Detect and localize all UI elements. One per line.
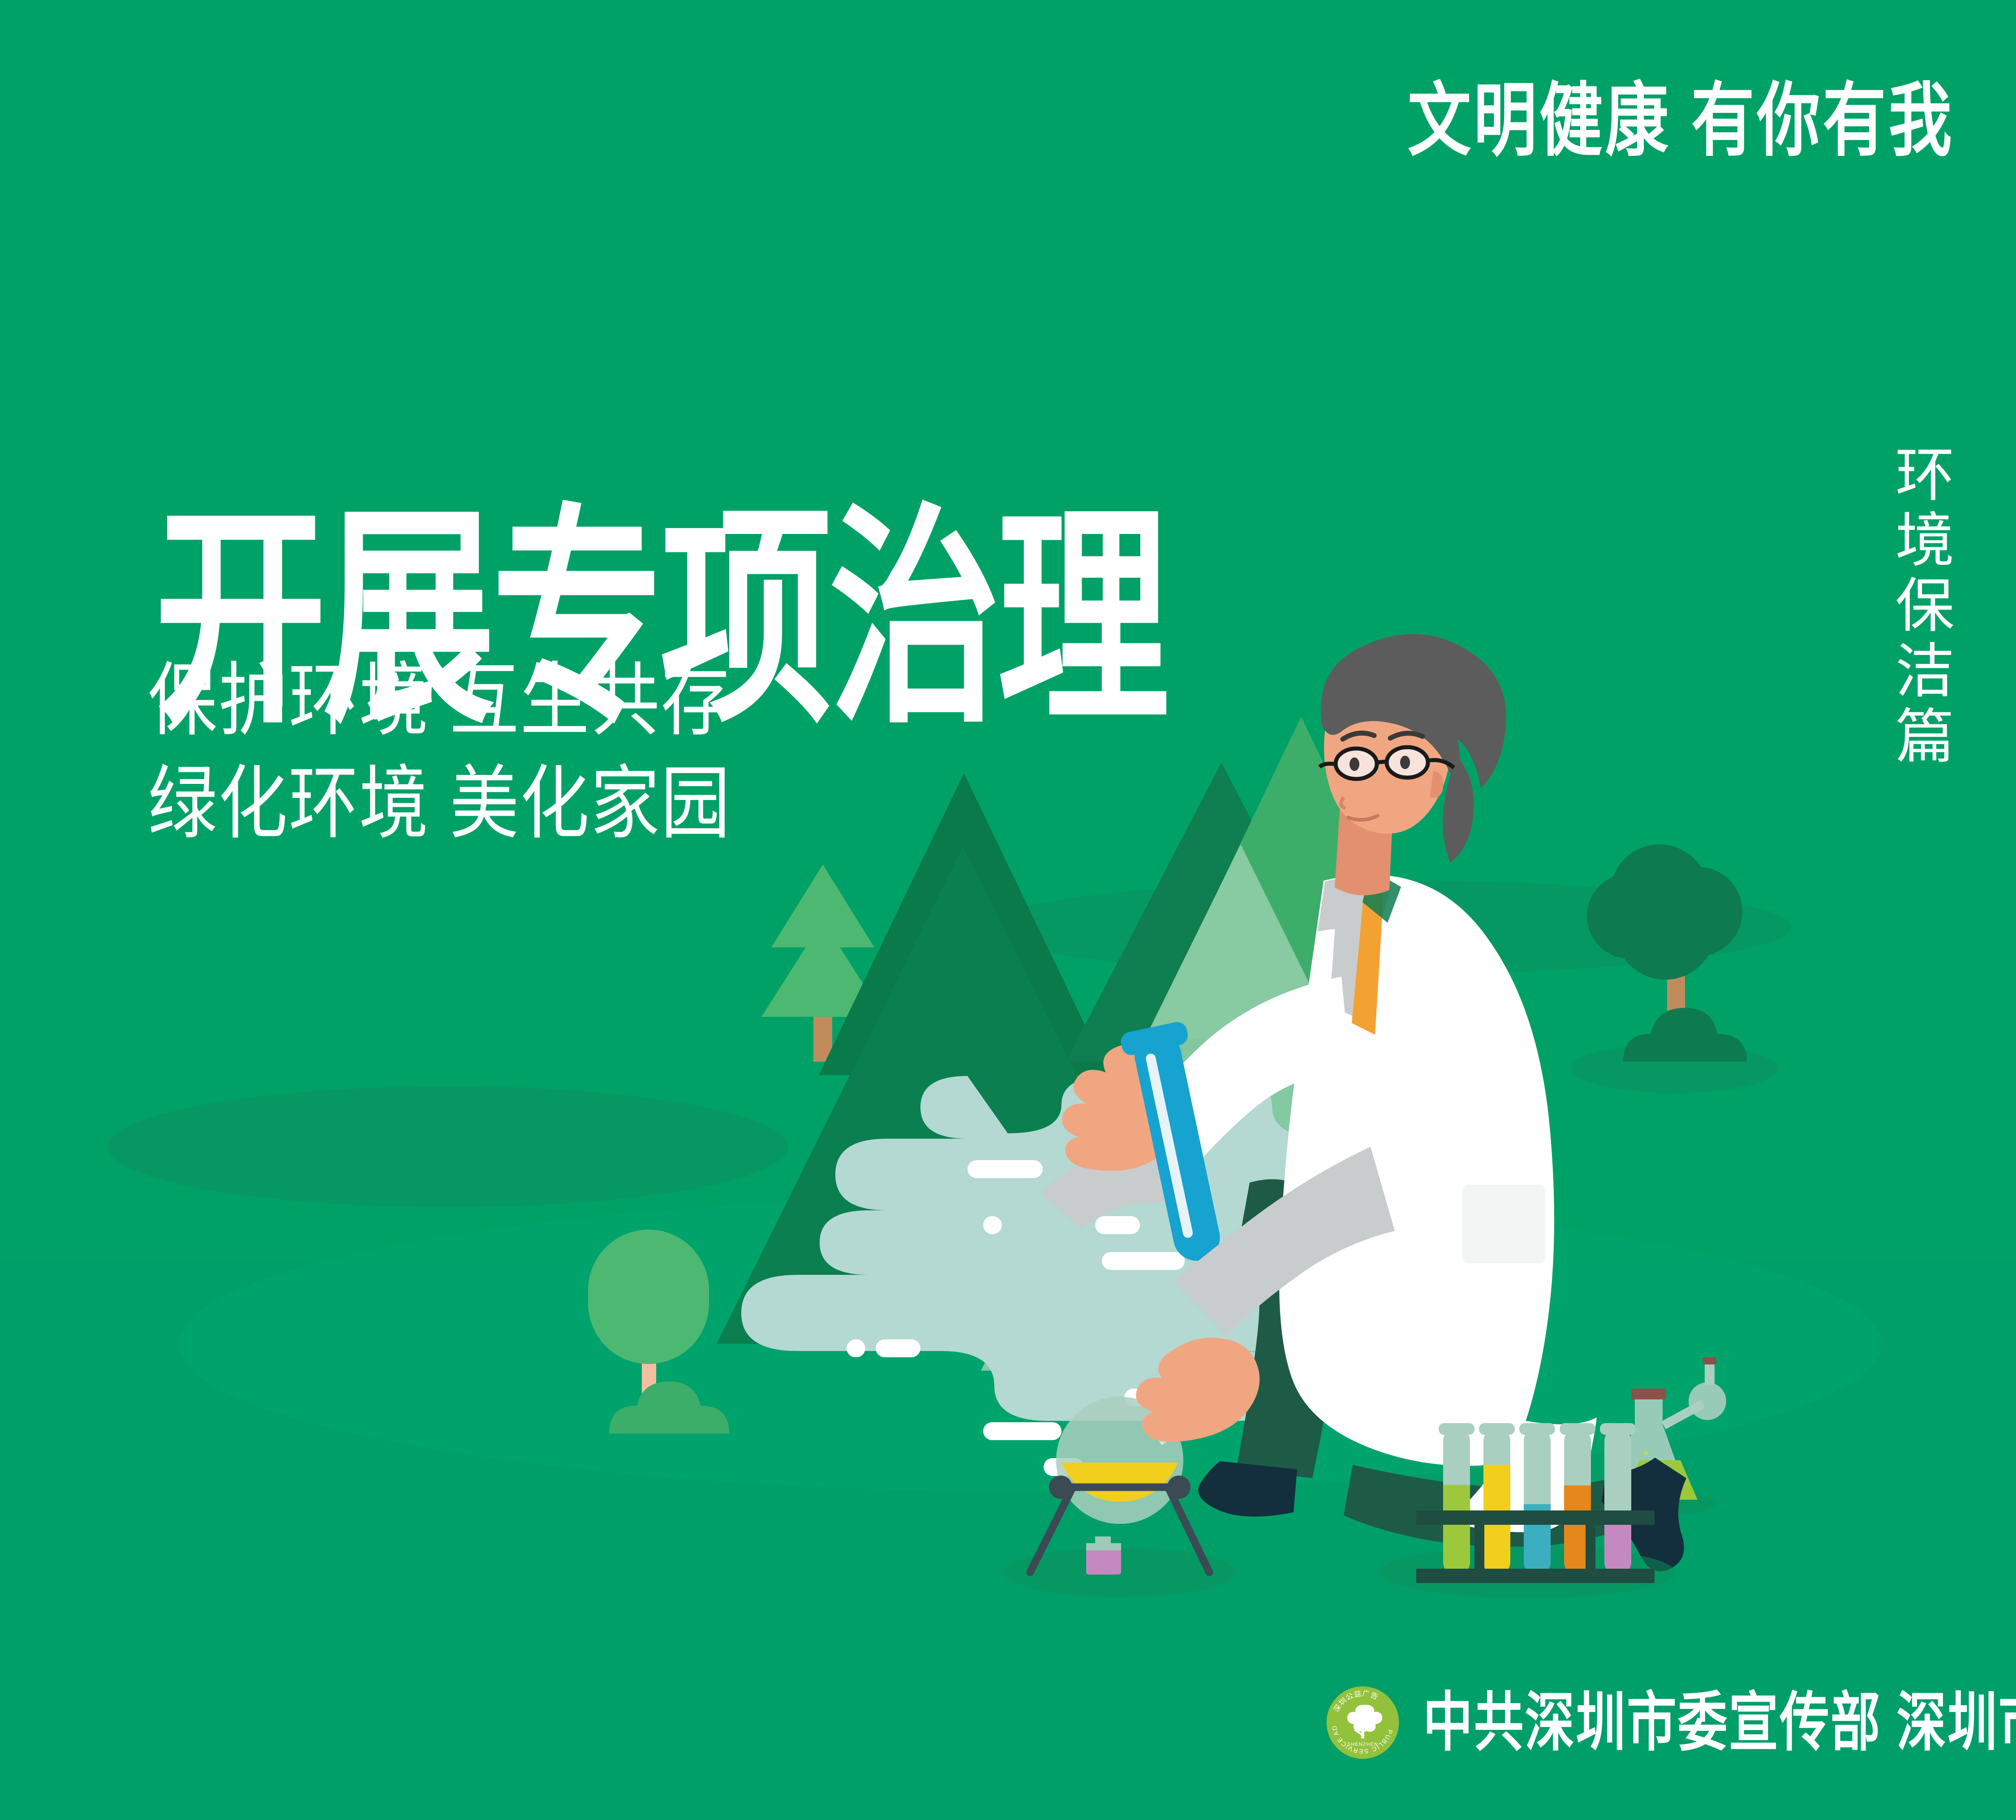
scientist-arm-lower <box>1173 1147 1395 1336</box>
blue-test-tube <box>1119 1020 1234 1267</box>
cloud-tree <box>1571 844 1777 1093</box>
eye-right <box>1400 756 1410 769</box>
mouth <box>1348 816 1378 820</box>
collar-left <box>1329 873 1374 1018</box>
polluted-water-pool <box>741 1075 1469 1476</box>
rack-tubes <box>1439 1423 1636 1575</box>
eye-left <box>1350 757 1359 771</box>
subtitle-block: 保护环境 互生共存 绿化环境 美化家园 <box>148 643 749 849</box>
ground-shadow-left <box>107 1086 788 1207</box>
scientist-back-shoe <box>1601 1458 1686 1571</box>
round-bottom-flask-with-burner <box>1003 1379 1236 1597</box>
scientist-hair <box>1321 634 1506 788</box>
ground-highlight <box>179 1196 1881 1492</box>
top-slogan: 文明健康 有你有我 <box>1408 81 1954 161</box>
mountain-dark-small <box>819 773 1109 1075</box>
mountain-dark-big <box>717 847 1209 1344</box>
scientist-head <box>1324 660 1452 834</box>
svg-text:SHENZHEN: SHENZHEN <box>1347 1742 1378 1747</box>
footer-credit: 中共深圳市委宣传部 深圳市文明办 <box>1423 1691 2016 1755</box>
scientist-front-shoe <box>1198 1461 1297 1517</box>
erlenmeyer-flask <box>1599 1357 1726 1515</box>
scientist-front-leg <box>1236 1179 1341 1479</box>
round-tree <box>588 1230 729 1433</box>
illustration-scene <box>0 0 2016 1820</box>
mountain-dark <box>1066 762 1377 1062</box>
ear <box>1430 770 1444 798</box>
scientist-arm-upper <box>1104 977 1350 1200</box>
pine-tree <box>761 865 884 1062</box>
scientist-figure <box>1040 634 1686 1571</box>
mountain-pale-front <box>981 844 1500 1371</box>
shoulder-shadow <box>1363 869 1401 923</box>
mountain-mid <box>1147 717 1456 1039</box>
scientist-left-hand <box>1136 1338 1259 1442</box>
ground-shadow-mid <box>985 880 1792 974</box>
scientist-neck <box>1335 804 1393 895</box>
subtitle-line-1: 保护环境 互生共存 <box>148 643 731 758</box>
scientist-right-hand <box>1062 1044 1178 1171</box>
scientist-coat <box>1279 874 1554 1466</box>
test-tube-rack <box>1380 1423 1675 1598</box>
coat-pocket <box>1462 1185 1545 1263</box>
footer: 深圳公益广告 PUBLIC SERVICE ADVERTISING SHENZH… <box>1326 1686 2016 1760</box>
glasses-icon <box>1320 747 1454 779</box>
shenzhen-psa-logo-icon: 深圳公益广告 PUBLIC SERVICE ADVERTISING SHENZH… <box>1326 1686 1400 1760</box>
tie <box>1352 878 1384 1035</box>
scientist-back-leg <box>1344 1465 1626 1547</box>
scientist-knee-highlight <box>1330 1249 1384 1338</box>
poster-root: 文明健康 有你有我 开展专项治理 保护环境 互生共存 绿化环境 美化家园 环境保… <box>0 0 2016 1820</box>
subtitle-line-2: 绿化环境 美化家园 <box>148 746 731 861</box>
nose <box>1341 797 1345 808</box>
vertical-series-label: 环境保洁篇 <box>1891 443 1956 770</box>
